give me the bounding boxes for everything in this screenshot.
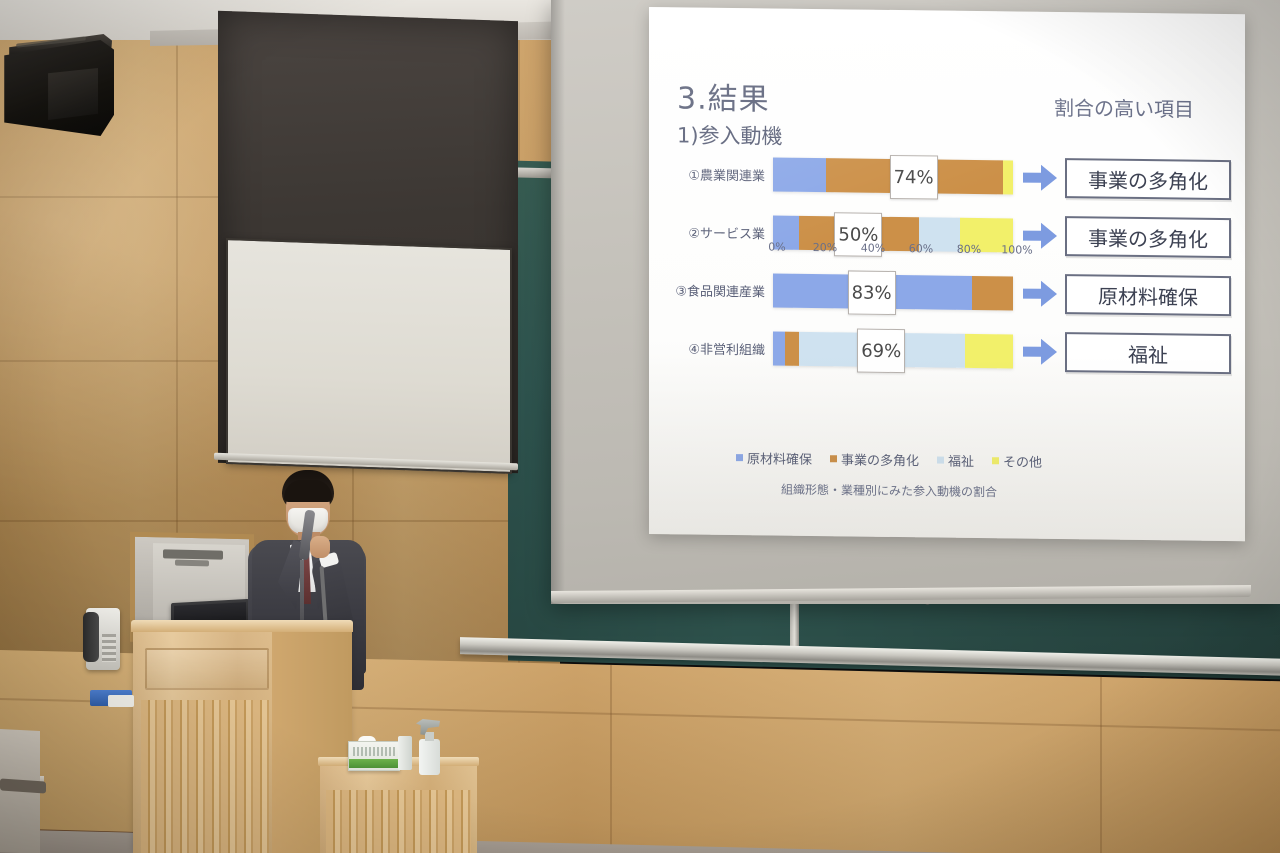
tissue-box [348,741,400,771]
right-arrow-icon [1023,281,1057,307]
callout-box: 福祉 [1065,332,1231,374]
bar-segment [1003,160,1013,194]
legend-swatch-icon [736,454,743,461]
side-table-slats [326,790,471,853]
white-supply-box [108,695,134,707]
axis-tick-label: 60% [909,242,933,255]
chart-row-label: ①農業関連業 [671,164,773,184]
bar-segment [773,158,826,193]
podium-slats [141,700,269,853]
podium-top [131,620,353,632]
axis-tick-label: 100% [1001,243,1032,256]
legend-label: 原材料確保 [747,448,812,468]
ceiling-speaker-icon [2,28,124,140]
bar-value-label: 74% [890,155,938,200]
legend-swatch-icon [830,455,837,462]
stacked-bar: 83% [773,274,1013,311]
legend-swatch-icon [992,457,999,464]
chart-row-label: ②サービス業 [671,222,773,242]
right-arrow-icon [1023,339,1057,365]
presentation-slide: 3.結果 1)参入動機 割合の高い項目 ①農業関連業74%事業の多角化②サービス… [649,7,1245,541]
callout-box: 事業の多角化 [1065,158,1231,200]
chart-x-axis: 0%20%40%60%80%100% [777,241,1025,264]
chart-caption: 組織形態・業種別にみた参入動機の割合 [689,479,1089,501]
chart-row: ④非営利組織69%福祉 [671,321,1231,380]
wall-phone[interactable] [86,608,120,670]
spray-bottle [416,719,442,775]
chart-row-label: ④非営利組織 [671,338,773,358]
bar-segment [773,332,785,366]
legend-item: 原材料確保 [736,448,812,468]
bar-segment [972,276,1013,310]
axis-tick-label: 80% [957,243,981,256]
stacked-bar: 69% [773,332,1013,369]
right-arrow-icon [1023,165,1057,191]
legend-item: 事業の多角化 [830,449,919,469]
projection-screen-edge [551,0,565,604]
pulldown-whiteboard [226,238,512,474]
bar-value-label: 69% [857,329,905,374]
legend-item: 福祉 [937,451,974,470]
slide-title: 3.結果 [677,73,770,118]
legend-label: 福祉 [948,451,974,470]
callout-box: 事業の多角化 [1065,216,1231,258]
slide-right-heading: 割合の高い項目 [1054,92,1194,123]
legend-swatch-icon [937,457,944,464]
axis-tick-label: 0% [768,240,785,253]
bar-segment [965,334,1013,369]
legend-item: その他 [992,451,1042,471]
stacked-bar: 74% [773,158,1013,195]
bar-segment [785,332,799,366]
callout-box: 原材料確保 [1065,274,1231,316]
small-bottle [398,736,412,770]
slide-subtitle: 1)参入動機 [677,119,783,150]
bar-value-label: 83% [848,270,896,315]
lecture-hall-scene: 3.結果 1)参入動機 割合の高い項目 ①農業関連業74%事業の多角化②サービス… [0,0,1280,853]
axis-tick-label: 20% [813,241,837,254]
axis-tick-label: 40% [861,242,885,255]
chart-row-label: ③食品関連産業 [671,280,773,300]
chart-row: ③食品関連産業83%原材料確保 [671,263,1231,322]
chart-row: ①農業関連業74%事業の多角化 [671,147,1231,206]
legend-label: 事業の多角化 [841,449,919,469]
legend-label: その他 [1003,451,1042,470]
stacked-bar-chart: ①農業関連業74%事業の多角化②サービス業50%事業の多角化③食品関連産業83%… [671,147,1231,434]
podium-front-panel [145,648,269,690]
chart-legend: 原材料確保事業の多角化福祉その他 [689,447,1089,471]
